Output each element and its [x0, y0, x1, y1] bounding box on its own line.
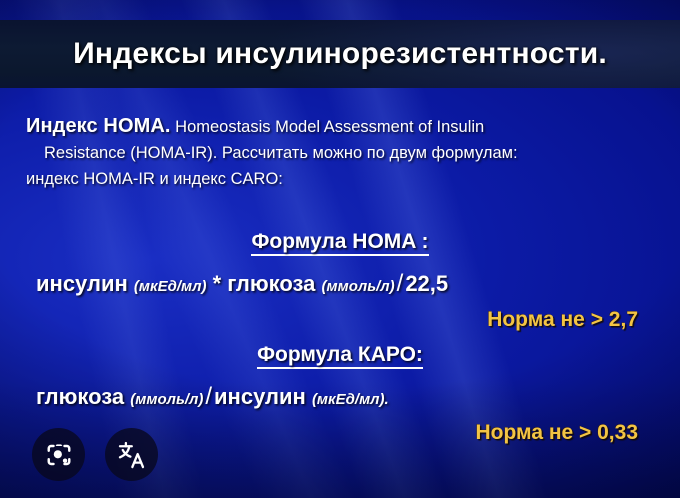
homa-unit-2: (ммоль/л) [322, 278, 395, 295]
homa-divisor: 22,5 [405, 271, 448, 296]
overlay-button-group [32, 428, 158, 481]
lens-icon [45, 441, 73, 469]
intro-line3: индекс HOMA-IR и индекс CARO: [26, 167, 636, 192]
formula-homa-expression: инсулин (мкЕд/мл) * глюкоза (ммоль/л)/22… [0, 270, 680, 298]
homa-term-1: инсулин [36, 271, 128, 296]
caro-unit-1: (ммоль/л) [130, 391, 203, 408]
homa-term-2: глюкоза [227, 271, 315, 296]
intro-paragraph: Индекс HOMA. Homeostasis Model Assessmen… [26, 114, 636, 192]
formula-block-homa: Формула HOMA : инсулин (мкЕд/мл) * глюко… [0, 230, 680, 332]
homa-operator: * [213, 271, 222, 296]
intro-line1: Homeostasis Model Assessment of Insulin [175, 118, 484, 136]
homa-divider: / [395, 270, 406, 297]
formula-homa-heading-text: Формула HOMA : [251, 230, 428, 256]
caro-unit-2: (мкЕд/мл). [312, 391, 389, 408]
google-lens-button[interactable] [32, 428, 85, 481]
title-band: Индексы инсулинорезистентности. [0, 20, 680, 88]
formula-homa-heading: Формула HOMA : [0, 230, 680, 254]
formula-caro-heading: Формула КАРО: [0, 343, 680, 367]
slide-root: Индексы инсулинорезистентности. Индекс H… [0, 0, 680, 498]
caro-divider: / [203, 383, 214, 410]
formula-caro-heading-text: Формула КАРО: [257, 343, 423, 369]
homa-unit-1: (мкЕд/мл) [134, 278, 207, 295]
page-title: Индексы инсулинорезистентности. [73, 37, 607, 71]
caro-term-2: инсулин [214, 384, 306, 409]
translate-icon [117, 440, 147, 470]
translate-button[interactable] [105, 428, 158, 481]
caro-term-1: глюкоза [36, 384, 124, 409]
formula-caro-expression: глюкоза (ммоль/л)/инсулин (мкЕд/мл). [0, 383, 680, 411]
intro-lead: Индекс HOMA. [26, 115, 171, 137]
intro-line2: Resistance (HOMA-IR). Рассчитать можно п… [26, 141, 636, 166]
homa-norm-note: Норма не > 2,7 [0, 308, 680, 332]
